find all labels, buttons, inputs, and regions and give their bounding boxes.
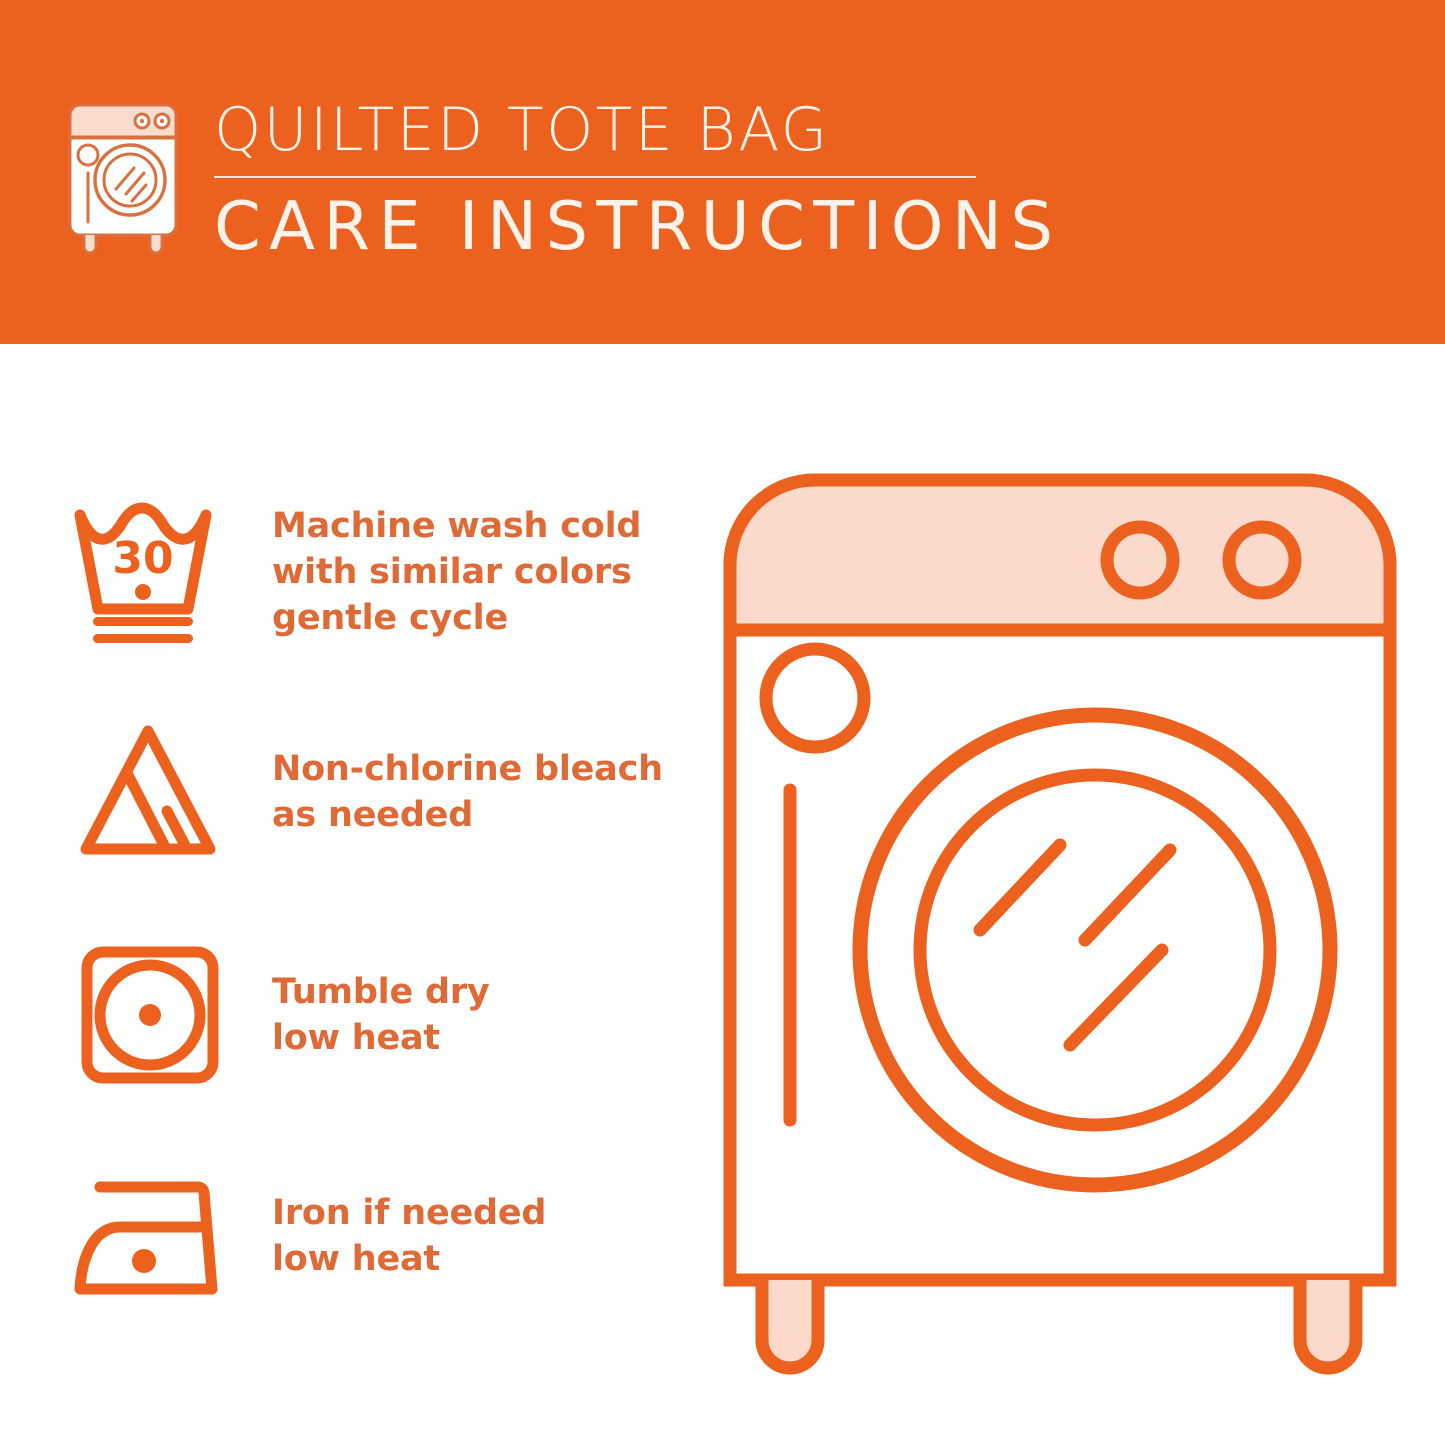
care-instruction-list: 30 Machine wash cold with similar colors… xyxy=(0,344,700,1445)
tumble-dry-low-heat-symbol xyxy=(60,935,240,1095)
care-row-label: Iron if needed low heat xyxy=(272,1190,546,1282)
wash-temperature-label: 30 xyxy=(112,533,173,584)
care-row-label: Machine wash cold with similar colors ge… xyxy=(272,503,641,641)
care-row: 30 Machine wash cold with similar colors… xyxy=(0,492,700,652)
washing-machine-icon xyxy=(58,97,188,257)
care-row: Non-chlorine bleach as needed xyxy=(0,712,700,872)
care-instructions-page: QUILTED TOTE BAG CARE INSTRUCTIONS 30 xyxy=(0,0,1445,1445)
header-text-block: QUILTED TOTE BAG CARE INSTRUCTIONS xyxy=(214,96,984,263)
knob-left xyxy=(1107,527,1173,593)
care-row-label: Tumble dry low heat xyxy=(272,969,490,1061)
care-row: Iron if needed low heat xyxy=(0,1156,700,1316)
page-title: QUILTED TOTE BAG xyxy=(214,96,984,164)
care-row-label: Non-chlorine bleach as needed xyxy=(272,746,663,838)
knob-right xyxy=(1229,527,1295,593)
iron-low-heat-symbol xyxy=(60,1156,240,1316)
front-load-washing-machine-illustration xyxy=(700,450,1420,1400)
header-banner: QUILTED TOTE BAG CARE INSTRUCTIONS xyxy=(0,0,1445,344)
non-chlorine-bleach-triangle-symbol xyxy=(60,712,240,872)
header-divider xyxy=(214,176,976,178)
machine-wash-30-gentle-symbol: 30 xyxy=(60,492,240,652)
page-subtitle: CARE INSTRUCTIONS xyxy=(214,189,984,263)
care-row: Tumble dry low heat xyxy=(0,935,700,1095)
